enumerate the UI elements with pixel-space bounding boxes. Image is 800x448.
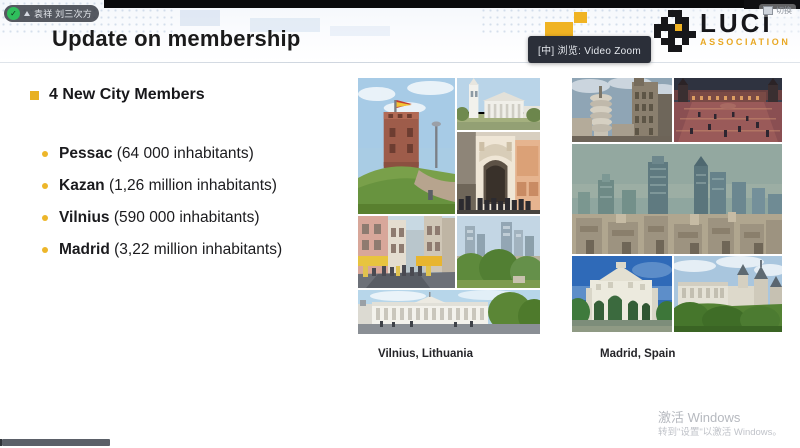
city-detail: (590 000 inhabitants)	[114, 209, 260, 226]
square-bullet-icon	[30, 91, 39, 100]
video-letterbox-bar	[104, 0, 744, 8]
city-name: Vilnius	[59, 209, 110, 226]
city-detail: (3,22 million inhabitants)	[114, 241, 282, 258]
photo-royal-palace-almudena	[674, 256, 782, 332]
city-detail: (1,26 million inhabitants)	[109, 177, 277, 194]
city-members-list: Pessac (64 000 inhabitants) Kazan (1,26 …	[42, 142, 282, 270]
photo-pilies-street	[358, 216, 455, 288]
windows-activation-watermark: 激活 Windows 转到"设置"以激活 Windows。	[658, 410, 782, 439]
vilnius-caption: Vilnius, Lithuania	[378, 348, 473, 360]
pixel-grid-logo-icon	[654, 10, 696, 52]
city-detail: (64 000 inhabitants)	[117, 145, 254, 162]
city-entry: Vilnius (590 000 inhabitants)	[59, 206, 260, 230]
photo-gediminas-tower	[358, 78, 455, 214]
city-entry: Pessac (64 000 inhabitants)	[59, 142, 254, 166]
title-divider	[0, 62, 800, 63]
photo-gran-via	[572, 78, 672, 142]
madrid-caption: Madrid, Spain	[600, 348, 675, 360]
bottom-progress-bar[interactable]	[2, 439, 110, 446]
city-entry: Kazan (1,26 million inhabitants)	[59, 174, 277, 198]
accent-square-large	[545, 22, 573, 37]
watermark-title: 激活 Windows	[658, 410, 782, 426]
corner-chip-label: 切换	[776, 5, 792, 16]
section-heading-label: 4 New City Members	[49, 86, 205, 104]
participant-badge[interactable]: ✓ 袁祥 刘三次方	[4, 5, 99, 22]
section-heading: 4 New City Members	[30, 86, 205, 104]
video-zoom-tooltip: [中] 浏览: Video Zoom	[528, 36, 651, 63]
vilnius-photo-collage	[358, 78, 540, 330]
madrid-photo-collage	[572, 78, 782, 330]
green-check-icon: ✓	[7, 7, 20, 20]
window-icon	[763, 6, 773, 15]
photo-gate-of-dawn	[457, 132, 540, 214]
list-item: Madrid (3,22 million inhabitants)	[42, 238, 282, 270]
photo-plaza-mayor	[674, 78, 782, 142]
photo-puerta-de-alcala	[572, 256, 672, 332]
dot-bullet-icon	[42, 215, 48, 221]
page-title: Update on membership	[52, 26, 300, 52]
caret-up-icon	[24, 11, 30, 16]
participant-name: 袁祥 刘三次方	[34, 7, 92, 20]
list-item: Vilnius (590 000 inhabitants)	[42, 206, 282, 238]
bottom-strip	[0, 437, 800, 448]
city-name: Madrid	[59, 241, 110, 258]
photo-vilnius-cathedral	[457, 78, 540, 130]
list-item: Pessac (64 000 inhabitants)	[42, 142, 282, 174]
dot-bullet-icon	[42, 247, 48, 253]
header-block-3	[330, 26, 390, 36]
header-block-1	[180, 10, 220, 26]
dot-bullet-icon	[42, 183, 48, 189]
presentation-slide: LUCI ASSOCIATION Update on membership 4 …	[0, 0, 800, 448]
photo-madrid-skyline	[572, 144, 782, 254]
city-entry: Madrid (3,22 million inhabitants)	[59, 238, 282, 262]
photo-vilnius-skyline	[457, 216, 540, 288]
corner-switch-chip[interactable]: 切换	[759, 4, 796, 17]
city-name: Kazan	[59, 177, 105, 194]
dot-bullet-icon	[42, 151, 48, 157]
accent-square-small	[574, 12, 587, 23]
luci-logo-tagline: ASSOCIATION	[700, 37, 790, 48]
city-name: Pessac	[59, 145, 112, 162]
list-item: Kazan (1,26 million inhabitants)	[42, 174, 282, 206]
photo-presidential-palace	[358, 290, 540, 334]
